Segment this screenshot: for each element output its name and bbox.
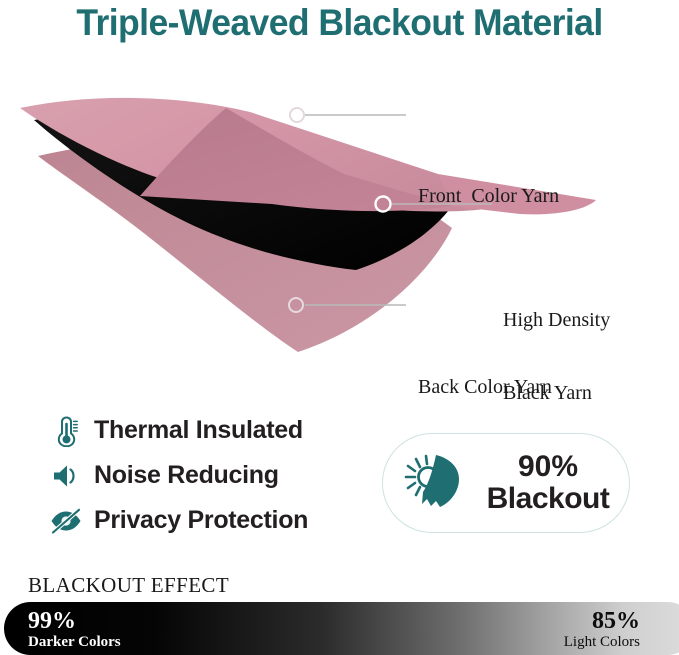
page-title: Triple-Weaved Blackout Material bbox=[14, 2, 666, 44]
leader-front-color-yarn bbox=[290, 108, 406, 122]
label-front-color-yarn: Front Color Yarn bbox=[418, 184, 559, 208]
badge-word: Blackout bbox=[475, 483, 621, 515]
feature-list: Thermal Insulated Noise Reducing Pri bbox=[46, 408, 366, 543]
label-back-color-yarn: Back Color Yarn bbox=[418, 375, 552, 399]
badge-text: 90% Blackout bbox=[475, 451, 629, 516]
left-percent: 99% bbox=[28, 609, 121, 634]
feature-thermal-insulated: Thermal Insulated bbox=[46, 408, 366, 453]
feature-label-privacy-protection: Privacy Protection bbox=[94, 506, 308, 535]
feature-noise-reducing: Noise Reducing bbox=[46, 453, 366, 498]
blackout-effect-heading: BLACKOUT EFFECT bbox=[28, 573, 229, 598]
feature-privacy-protection: Privacy Protection bbox=[46, 498, 366, 543]
left-caption: Darker Colors bbox=[28, 634, 121, 651]
blackout-effect-left-value: 99% Darker Colors bbox=[28, 609, 121, 651]
blackout-effect-gradient-bar: 99% Darker Colors 85% Light Colors bbox=[4, 602, 679, 655]
badge-percent: 90% bbox=[475, 451, 621, 483]
label-high-density-line1: High Density bbox=[503, 308, 610, 332]
blackout-badge: 90% Blackout bbox=[382, 433, 630, 533]
triple-weave-layer-diagram: Front Color Yarn High Density Black Yarn… bbox=[0, 78, 679, 358]
feature-label-thermal-insulated: Thermal Insulated bbox=[94, 416, 303, 445]
blackout-effect-right-value: 85% Light Colors bbox=[564, 609, 640, 651]
feature-label-noise-reducing: Noise Reducing bbox=[94, 461, 279, 490]
product-infographic: Triple-Weaved Blackout Material bbox=[0, 0, 679, 655]
label-high-density-black-yarn: High Density Black Yarn bbox=[503, 259, 610, 454]
thermometer-icon bbox=[46, 413, 86, 449]
eye-slash-icon bbox=[46, 503, 86, 539]
right-caption: Light Colors bbox=[564, 634, 640, 651]
right-percent: 85% bbox=[564, 609, 640, 634]
speaker-sound-icon bbox=[46, 458, 86, 494]
sun-blocked-by-curtain-icon bbox=[399, 450, 475, 516]
